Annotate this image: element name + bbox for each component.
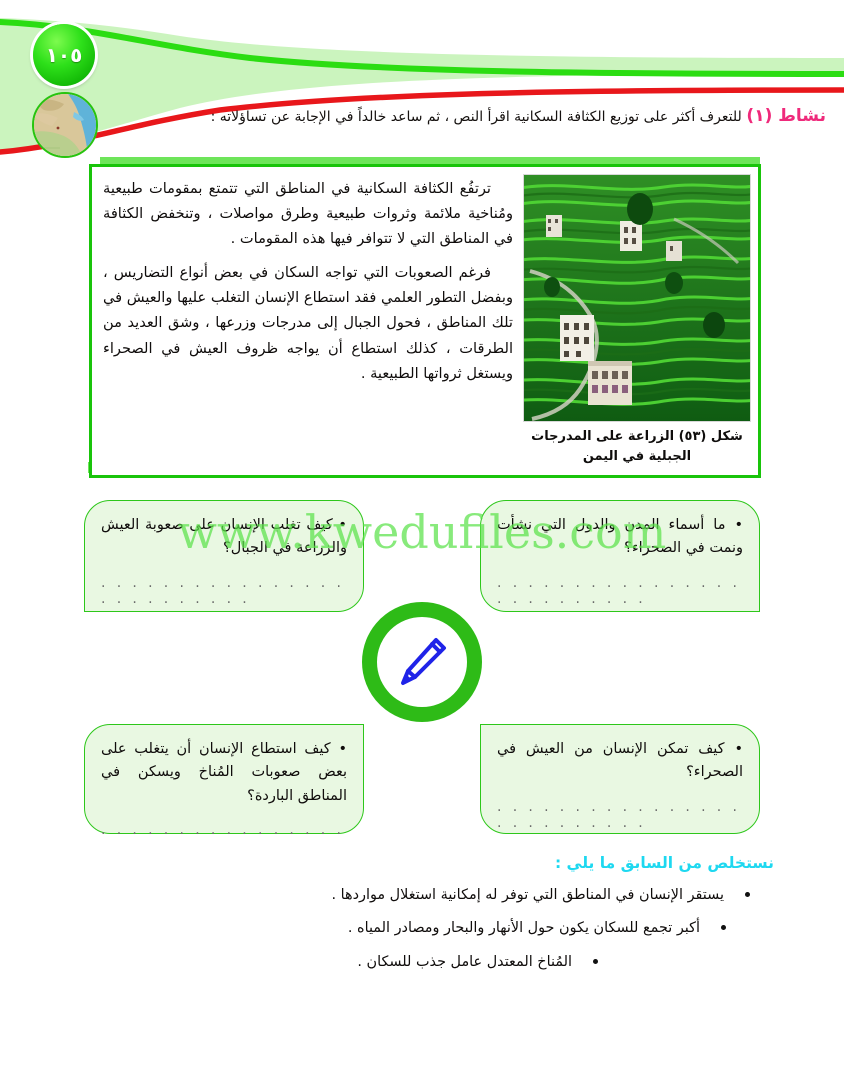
questions-group: • كيف تغلب الإنسان على صعوبة العيش والزر… (0, 494, 844, 844)
reading-text: ترتفُع الكثافة السكانية في المناطق التي … (99, 174, 513, 468)
answer-line[interactable]: . . . . . . . . . . . . . . . . . . . . … (101, 575, 347, 607)
header-decoration (0, 0, 844, 170)
mountain-terraces-photo (523, 174, 751, 422)
answer-line[interactable]: . . . . . . . . . . . . . . . . . . . . … (497, 799, 743, 831)
conclusion-heading: نستخلص من السابق ما يلي : (40, 854, 774, 872)
activity-label: نشاط (١) (746, 106, 826, 126)
question-text: • كيف تغلب الإنسان على صعوبة العيش والزر… (101, 514, 347, 561)
page-number-badge: ١٠٥ (33, 24, 95, 86)
conclusion-item: المُناخ المعتدل عامل جذب للسكان . (40, 951, 740, 973)
conclusion-section: نستخلص من السابق ما يلي : يستقر الإنسان … (40, 854, 774, 984)
answer-line[interactable]: . . . . . . . . . . . . . . . . . . . . … (497, 575, 743, 607)
question-bubble-bottom-right[interactable]: • كيف تمكن الإنسان من العيش في الصحراء؟ … (480, 724, 760, 834)
reading-paragraph-1: ترتفُع الكثافة السكانية في المناطق التي … (103, 176, 513, 251)
activity-instruction: للتعرف أكثر على توزيع الكثافة السكانية ا… (211, 109, 742, 125)
question-bubble-bottom-left[interactable]: • كيف استطاع الإنسان أن يتغلب على بعض صع… (84, 724, 364, 834)
conclusion-item: أكبر تجمع للسكان يكون حول الأنهار والبحا… (40, 917, 740, 939)
page-number-text: ١٠٥ (46, 43, 83, 67)
reading-box: ترتفُع الكثافة السكانية في المناطق التي … (89, 164, 761, 478)
figure-caption: شكل (٥٣) الزراعة على المدرجات الجبلية في… (523, 427, 751, 466)
question-text: • ما أسماء المدن والدول التي نشأت ونمت ف… (497, 514, 743, 561)
kuwait-map-icon (32, 92, 98, 158)
conclusion-item: يستقر الإنسان في المناطق التي توفر له إم… (40, 884, 740, 906)
question-bubble-top-right[interactable]: • ما أسماء المدن والدول التي نشأت ونمت ف… (480, 500, 760, 612)
reading-figure: شكل (٥٣) الزراعة على المدرجات الجبلية في… (523, 174, 751, 468)
conclusion-list: يستقر الإنسان في المناطق التي توفر له إم… (40, 884, 774, 973)
answer-line[interactable]: . . . . . . . . . . . . . . . . (101, 822, 347, 838)
question-text: • كيف استطاع الإنسان أن يتغلب على بعض صع… (101, 738, 347, 808)
question-text: • كيف تمكن الإنسان من العيش في الصحراء؟ (497, 738, 743, 785)
pencil-icon (391, 631, 453, 693)
pencil-badge (362, 602, 482, 722)
reading-paragraph-2: فرغم الصعوبات التي تواجه السكان في بعض أ… (103, 260, 513, 385)
activity-title-line: نشاط (١) للتعرف أكثر على توزيع الكثافة ا… (110, 106, 826, 126)
question-bubble-top-left[interactable]: • كيف تغلب الإنسان على صعوبة العيش والزر… (84, 500, 364, 612)
